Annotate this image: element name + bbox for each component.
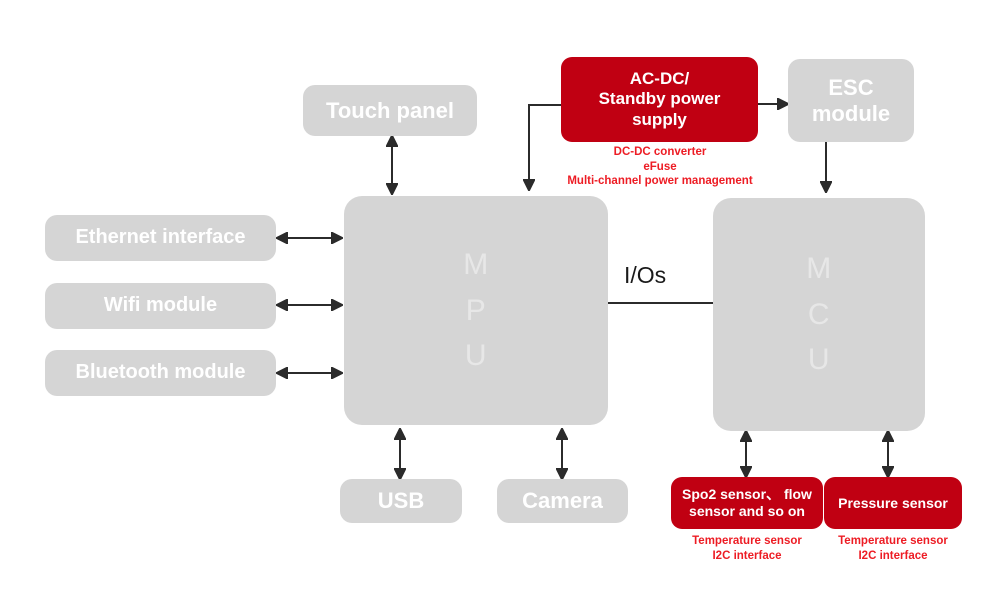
caption-power-line1: DC-DC converter — [546, 145, 774, 160]
caption-power-supply: DC-DC converter eFuse Multi-channel powe… — [546, 145, 774, 189]
power-supply-label-line2: Standby power — [599, 89, 721, 109]
esc-module-label-line2: module — [812, 101, 890, 127]
mcu-letter-c: C — [808, 292, 830, 338]
touch-panel-label: Touch panel — [326, 98, 454, 124]
block-ethernet-interface[interactable]: Ethernet interface — [45, 215, 276, 261]
block-camera[interactable]: Camera — [497, 479, 628, 523]
caption-pressure-sensor: Temperature sensor I2C interface — [822, 534, 964, 563]
block-wifi-module[interactable]: Wifi module — [45, 283, 276, 329]
mpu-letter-p: P — [466, 288, 487, 334]
pressure-sensor-label: Pressure sensor — [838, 495, 948, 512]
block-usb[interactable]: USB — [340, 479, 462, 523]
power-supply-label-line3: supply — [632, 110, 687, 130]
mcu-letter-m: M — [806, 246, 832, 292]
block-mpu[interactable]: M P U — [344, 196, 608, 425]
mcu-letter-u: U — [808, 337, 830, 383]
caption-spo2-line2: I2C interface — [667, 549, 827, 564]
block-pressure-sensor[interactable]: Pressure sensor — [824, 477, 962, 529]
spo2-sensor-label-line1: Spo2 sensor、 flow — [682, 486, 812, 503]
caption-power-line2: eFuse — [546, 160, 774, 175]
mpu-letter-u: U — [465, 333, 487, 379]
block-power-supply[interactable]: AC-DC/ Standby power supply — [561, 57, 758, 142]
caption-pressure-line1: Temperature sensor — [822, 534, 964, 549]
camera-label: Camera — [522, 488, 603, 514]
caption-pressure-line2: I2C interface — [822, 549, 964, 564]
usb-label: USB — [378, 488, 424, 514]
caption-power-line3: Multi-channel power management — [546, 174, 774, 189]
block-bluetooth-module[interactable]: Bluetooth module — [45, 350, 276, 396]
spo2-sensor-label-line2: sensor and so on — [689, 503, 805, 520]
block-esc-module[interactable]: ESC module — [788, 59, 914, 142]
block-spo2-sensor[interactable]: Spo2 sensor、 flow sensor and so on — [671, 477, 823, 529]
block-touch-panel[interactable]: Touch panel — [303, 85, 477, 136]
caption-spo2-line1: Temperature sensor — [667, 534, 827, 549]
block-mcu[interactable]: M C U — [713, 198, 925, 431]
ethernet-interface-label: Ethernet interface — [75, 226, 245, 250]
wifi-module-label: Wifi module — [104, 294, 217, 318]
mpu-letter-m: M — [463, 242, 489, 288]
power-supply-label-line1: AC-DC/ — [630, 69, 690, 89]
bluetooth-module-label: Bluetooth module — [76, 361, 246, 385]
ios-bus-label: I/Os — [620, 262, 670, 289]
caption-spo2-sensor: Temperature sensor I2C interface — [667, 534, 827, 563]
esc-module-label-line1: ESC — [828, 75, 873, 101]
